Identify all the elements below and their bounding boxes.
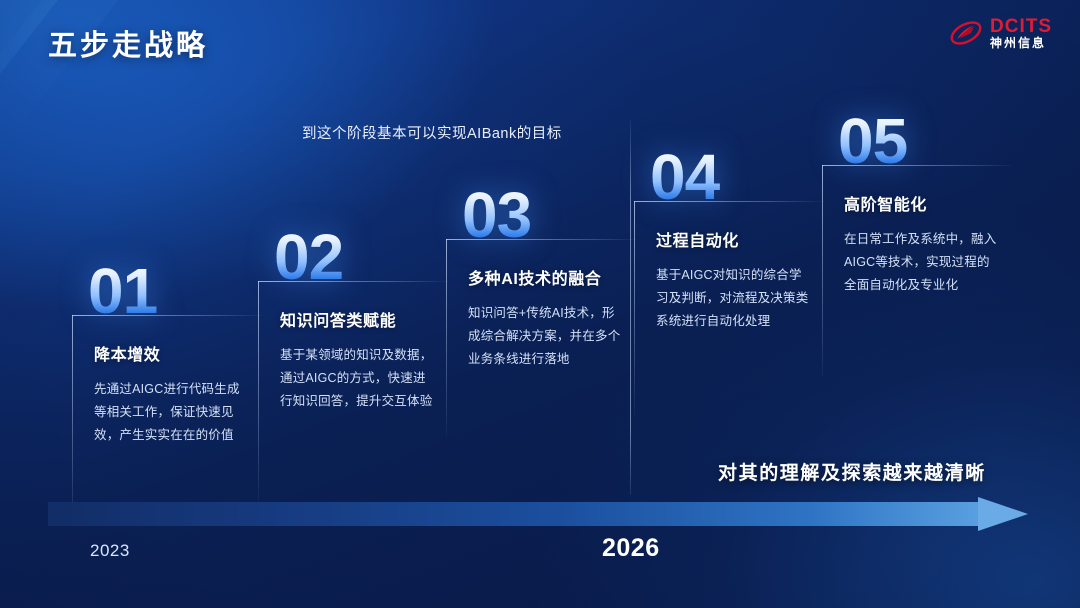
step-frame-left-rule	[634, 201, 635, 417]
timeline-start-year: 2023	[90, 541, 130, 561]
step-body: 高阶智能化 在日常工作及系统中，融入AIGC等技术，实现过程的全面自动化及专业化	[822, 165, 1012, 297]
timeline-arrow-bar	[48, 502, 980, 526]
step-card-02[interactable]: 02 知识问答类赋能 基于某领域的知识及数据，通过AIGC的方式，快速进行知识回…	[258, 228, 448, 503]
step-body: 知识问答类赋能 基于某领域的知识及数据，通过AIGC的方式，快速进行知识回答，提…	[258, 281, 448, 413]
step-description: 基于AIGC对知识的综合学习及判断，对流程及决策类系统进行自动化处理	[656, 264, 812, 333]
step-frame: 多种AI技术的融合 知识问答+传统AI技术，形成综合解决方案，并在多个业务条线进…	[446, 239, 636, 437]
step-description: 知识问答+传统AI技术，形成综合解决方案，并在多个业务条线进行落地	[468, 302, 626, 371]
step-title: 高阶智能化	[844, 191, 1002, 215]
step-number: 04	[650, 148, 822, 207]
dcits-swoosh-icon	[949, 16, 983, 50]
step-card-01[interactable]: 01 .f1::after{height:208px;} 降本增效 先通过AIG…	[72, 262, 262, 523]
step-frame-left-rule	[258, 281, 259, 503]
step-frame-left-rule	[822, 165, 823, 377]
step-number: 02	[274, 228, 448, 287]
step-card-04[interactable]: 04 过程自动化 基于AIGC对知识的综合学习及判断，对流程及决策类系统进行自动…	[634, 148, 822, 417]
step-description: 先通过AIGC进行代码生成等相关工作，保证快速见效，产生实实在在的价值	[94, 378, 252, 447]
step-frame: 高阶智能化 在日常工作及系统中，融入AIGC等技术，实现过程的全面自动化及专业化	[822, 165, 1012, 377]
step-title: 降本增效	[94, 341, 252, 365]
step-frame: .f1::after{height:208px;} 降本增效 先通过AIGC进行…	[72, 315, 262, 523]
step-frame: 过程自动化 基于AIGC对知识的综合学习及判断，对流程及决策类系统进行自动化处理	[634, 201, 822, 417]
step-card-05[interactable]: 05 高阶智能化 在日常工作及系统中，融入AIGC等技术，实现过程的全面自动化及…	[822, 112, 1012, 377]
step-description: 在日常工作及系统中，融入AIGC等技术，实现过程的全面自动化及专业化	[844, 228, 1002, 297]
step-number: 03	[462, 186, 636, 245]
step-body: 多种AI技术的融合 知识问答+传统AI技术，形成综合解决方案，并在多个业务条线进…	[446, 239, 636, 371]
step-title: 知识问答类赋能	[280, 307, 438, 331]
step-frame: 知识问答类赋能 基于某领域的知识及数据，通过AIGC的方式，快速进行知识回答，提…	[258, 281, 448, 503]
timeline-caption: 对其的理解及探索越来越清晰	[718, 458, 986, 485]
annotation-note: 到这个阶段基本可以实现AIBank的目标	[302, 122, 562, 143]
page-title: 五步走战略	[48, 22, 208, 64]
step-number: 01	[88, 262, 262, 321]
step-title: 多种AI技术的融合	[468, 265, 626, 289]
slide-canvas: 五步走战略 DCITS 神州信息 到这个阶段基本可以实现AIBank的目标 01…	[0, 0, 1080, 608]
step-frame-left-rule	[446, 239, 447, 437]
step-body: 降本增效 先通过AIGC进行代码生成等相关工作，保证快速见效，产生实实在在的价值	[72, 315, 262, 447]
step-description: 基于某领域的知识及数据，通过AIGC的方式，快速进行知识回答，提升交互体验	[280, 344, 438, 413]
step-card-03[interactable]: 03 多种AI技术的融合 知识问答+传统AI技术，形成综合解决方案，并在多个业务…	[446, 186, 636, 437]
step-title: 过程自动化	[656, 227, 812, 251]
step-number: 05	[838, 112, 1012, 171]
brand-logo: DCITS 神州信息	[949, 16, 1052, 50]
timeline-arrow	[48, 497, 1028, 531]
timeline-arrow-head-icon	[978, 497, 1028, 531]
step-frame-left-rule	[72, 315, 73, 523]
logo-text-cn: 神州信息	[990, 37, 1052, 50]
step-body: 过程自动化 基于AIGC对知识的综合学习及判断，对流程及决策类系统进行自动化处理	[634, 201, 822, 333]
timeline-end-year: 2026	[602, 534, 660, 563]
logo-text-en: DCITS	[990, 17, 1052, 37]
